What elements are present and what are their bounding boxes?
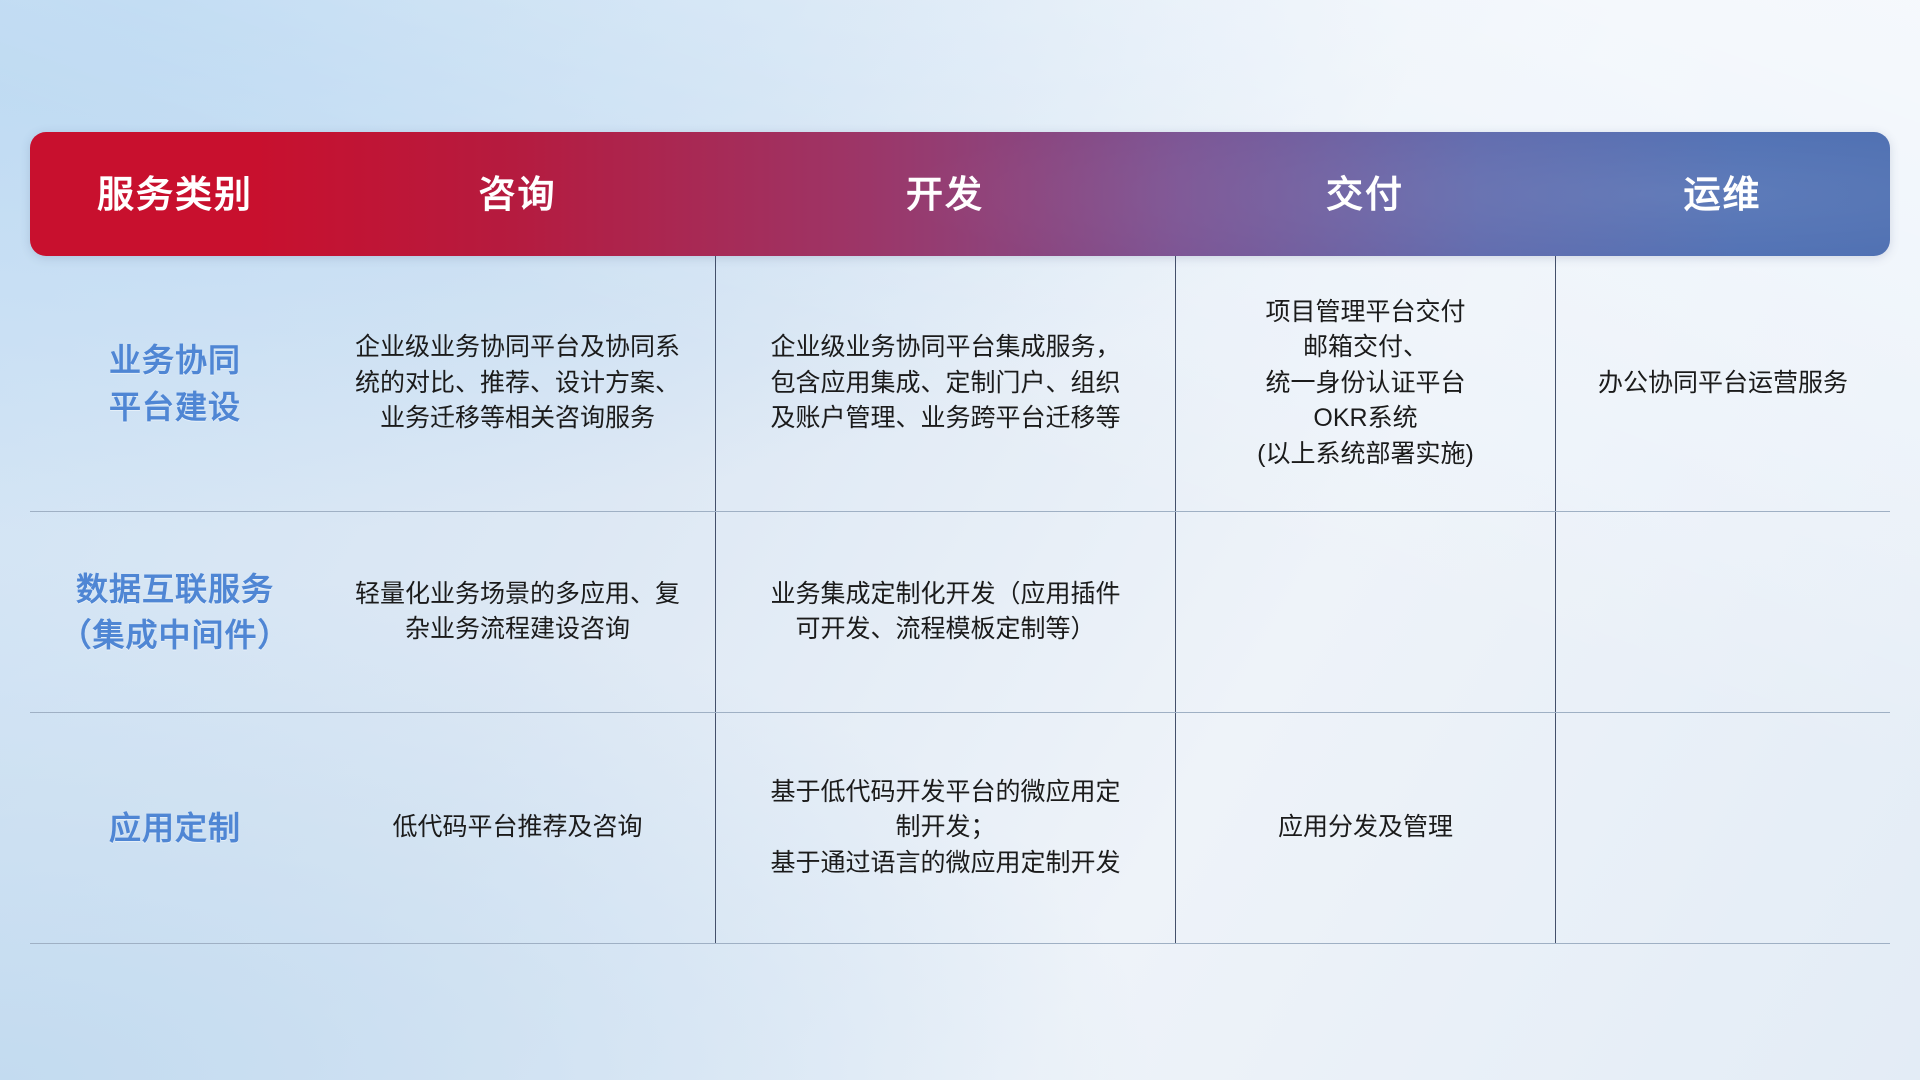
cell-development: 企业级业务协同平台集成服务， 包含应用集成、定制门户、组织 及账户管理、业务跨平… <box>715 256 1175 511</box>
column-header-operations: 运维 <box>1555 176 1890 213</box>
cell-operations <box>1555 713 1890 943</box>
column-header-consulting: 咨询 <box>320 176 715 213</box>
table-body: 业务协同 平台建设 企业级业务协同平台及协同系 统的对比、推荐、设计方案、 业务… <box>30 256 1890 944</box>
column-header-development: 开发 <box>715 176 1175 213</box>
cell-development: 业务集成定制化开发（应用插件 可开发、流程模板定制等） <box>715 512 1175 712</box>
table-row: 数据互联服务 （集成中间件） 轻量化业务场景的多应用、复 杂业务流程建设咨询 业… <box>30 512 1890 713</box>
slide-canvas: 服务类别 咨询 开发 交付 运维 业务协同 平台建设 企业级业务协同平台及协同系… <box>0 0 1920 1080</box>
row-label-application-customization: 应用定制 <box>30 713 320 943</box>
cell-consulting: 企业级业务协同平台及协同系 统的对比、推荐、设计方案、 业务迁移等相关咨询服务 <box>320 256 715 511</box>
cell-development: 基于低代码开发平台的微应用定 制开发； 基于通过语言的微应用定制开发 <box>715 713 1175 943</box>
table-header-row: 服务类别 咨询 开发 交付 运维 <box>30 132 1890 256</box>
cell-delivery <box>1175 512 1555 712</box>
cell-consulting: 轻量化业务场景的多应用、复 杂业务流程建设咨询 <box>320 512 715 712</box>
column-header-delivery: 交付 <box>1175 176 1555 213</box>
column-header-service-category: 服务类别 <box>30 176 320 213</box>
cell-delivery: 应用分发及管理 <box>1175 713 1555 943</box>
cell-delivery: 项目管理平台交付 邮箱交付、 统一身份认证平台 OKR系统 (以上系统部署实施) <box>1175 256 1555 511</box>
service-matrix-table: 服务类别 咨询 开发 交付 运维 业务协同 平台建设 企业级业务协同平台及协同系… <box>30 132 1890 944</box>
row-label-data-integration: 数据互联服务 （集成中间件） <box>30 512 320 712</box>
table-row: 业务协同 平台建设 企业级业务协同平台及协同系 统的对比、推荐、设计方案、 业务… <box>30 256 1890 512</box>
row-label-business-collaboration: 业务协同 平台建设 <box>30 256 320 511</box>
cell-operations <box>1555 512 1890 712</box>
table-row: 应用定制 低代码平台推荐及咨询 基于低代码开发平台的微应用定 制开发； 基于通过… <box>30 713 1890 944</box>
cell-operations: 办公协同平台运营服务 <box>1555 256 1890 511</box>
cell-consulting: 低代码平台推荐及咨询 <box>320 713 715 943</box>
